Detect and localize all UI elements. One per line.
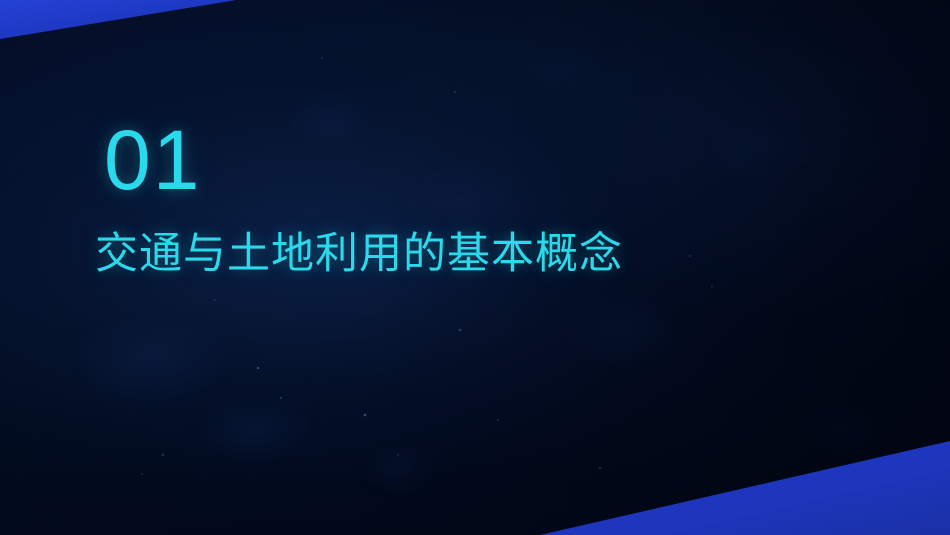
section-number: 01 — [104, 118, 201, 202]
page-title: 交通与土地利用的基本概念 — [95, 229, 623, 280]
slide-content: 01 交通与土地利用的基本概念 — [0, 0, 950, 535]
presentation-slide: 01 交通与土地利用的基本概念 — [0, 0, 950, 535]
